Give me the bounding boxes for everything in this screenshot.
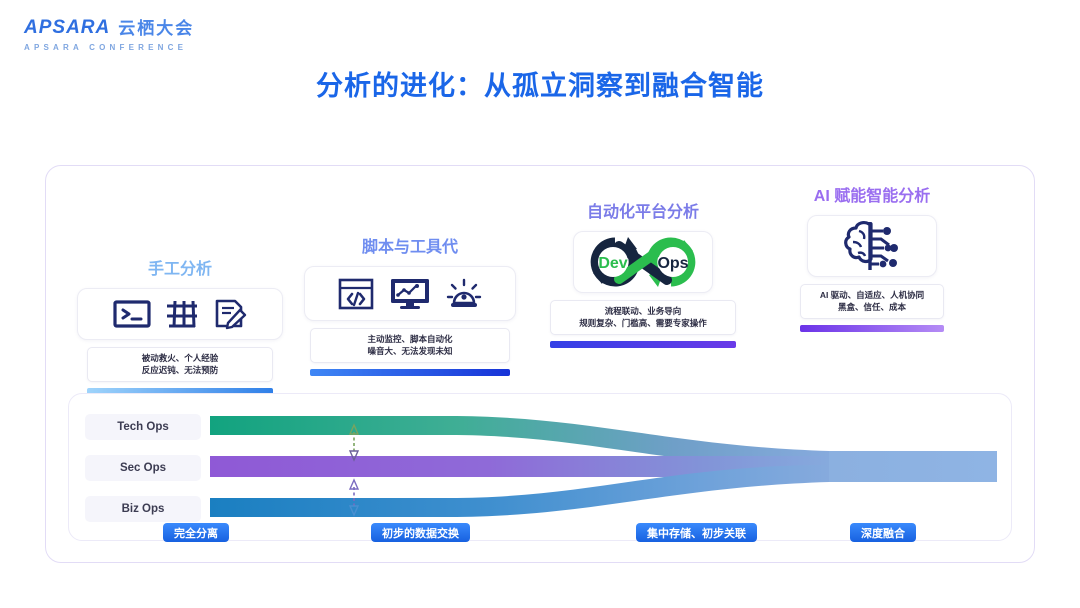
stage-progress-bar — [550, 341, 736, 348]
alarm-siren-icon — [445, 277, 483, 311]
caption-con: 反应迟钝、无法预防 — [94, 364, 266, 376]
monitor-chart-icon — [389, 277, 431, 311]
stage-progress-bar — [800, 325, 944, 332]
maturity-chip-3[interactable]: 深度融合 — [850, 523, 916, 542]
stage-caption: 被动救火、个人经验 反应迟钝、无法预防 — [87, 347, 273, 382]
caption-con: 规则复杂、门槛高、需要专家操作 — [557, 317, 729, 329]
stage-caption: 主动监控、脚本自动化 噪音大、无法发现未知 — [310, 328, 510, 363]
brand-logo: APSARA 云栖大会 APSARA CONFERENCE — [24, 14, 194, 52]
stage-progress-bar — [310, 369, 510, 376]
stage-title: AI 赋能智能分析 — [757, 182, 987, 206]
ops-convergence-diagram: Tech Ops Sec Ops Biz Ops — [68, 393, 1012, 541]
brand-chinese-text: 云栖大会 — [118, 14, 194, 39]
stage-title: 手工分析 — [65, 255, 295, 279]
devops-infinity-icon: Dev Ops — [579, 234, 707, 290]
terminal-icon — [113, 299, 151, 329]
spreadsheet-grid-icon — [165, 299, 199, 329]
stage-card-scripting: 脚本与工具代 主动监控、脚本自动化 噪音大、无法发现未知 — [295, 233, 525, 376]
merged-band — [829, 451, 997, 482]
document-edit-icon — [213, 298, 247, 330]
stage-caption: 流程联动、业务导向 规则复杂、门槛高、需要专家操作 — [550, 300, 736, 335]
maturity-chip-1[interactable]: 初步的数据交换 — [371, 523, 470, 542]
page-title: 分析的进化：从孤立洞察到融合智能 — [0, 64, 1080, 103]
devops-dev-label: Dev — [598, 255, 627, 272]
caption-pro: 主动监控、脚本自动化 — [317, 333, 503, 345]
convergence-bands — [69, 394, 1011, 540]
stage-icon-group: Dev Ops — [573, 231, 713, 293]
caption-con: 噪音大、无法发现未知 — [317, 345, 503, 357]
caption-pro: 流程联动、业务导向 — [557, 305, 729, 317]
code-window-icon — [337, 277, 375, 311]
maturity-chip-0[interactable]: 完全分离 — [163, 523, 229, 542]
stage-icon-group — [807, 215, 937, 277]
stage-caption: AI 驱动、自适应、人机协同 黑盒、信任、成本 — [800, 284, 944, 319]
stage-title: 脚本与工具代 — [295, 233, 525, 257]
devops-ops-label: Ops — [657, 255, 688, 272]
stage-card-ai: AI 赋能智能分析 AI 驱动、自适应、人机协同 — [757, 182, 987, 332]
ai-brain-circuit-icon — [837, 218, 907, 274]
caption-pro: AI 驱动、自适应、人机协同 — [807, 289, 937, 301]
brand-subtitle: APSARA CONFERENCE — [24, 43, 194, 52]
maturity-chip-2[interactable]: 集中存储、初步关联 — [636, 523, 757, 542]
caption-pro: 被动救火、个人经验 — [94, 352, 266, 364]
stage-card-automation: 自动化平台分析 Dev Ops 流 — [528, 198, 758, 348]
brand-apsara-text: APSARA — [24, 17, 110, 39]
stage-icon-group — [77, 288, 283, 340]
stage-title: 自动化平台分析 — [528, 198, 758, 222]
stage-card-manual: 手工分析 被动救火、个人经验 反应迟钝、无法预防 — [65, 255, 295, 395]
caption-con: 黑盒、信任、成本 — [807, 301, 937, 313]
stage-icon-group — [304, 266, 516, 321]
